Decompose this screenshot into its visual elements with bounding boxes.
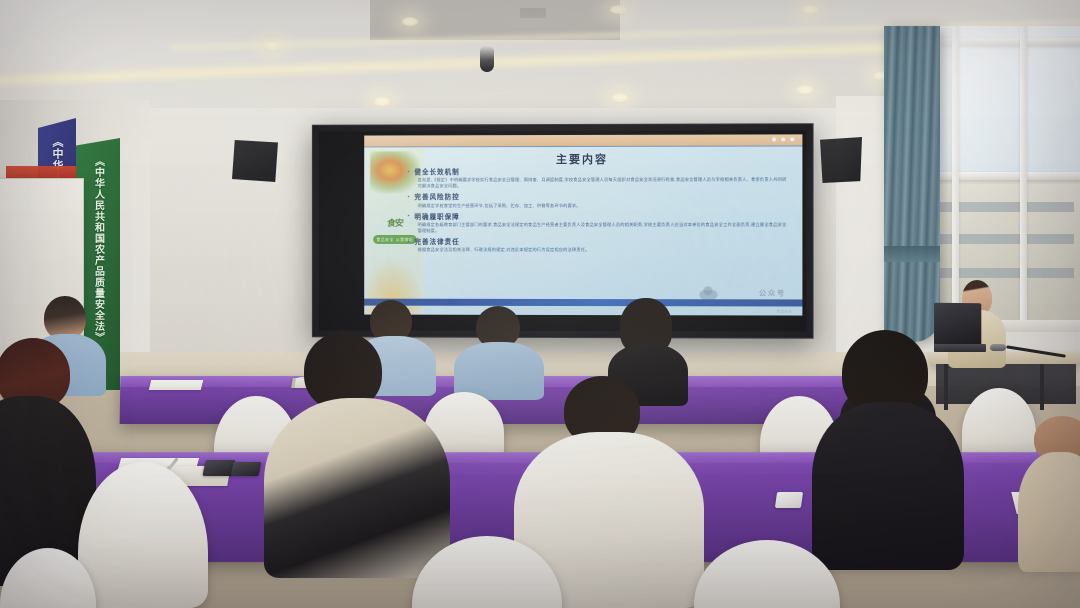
slide-bullet-heading: 明确履职保障 — [408, 214, 791, 221]
slide-watermark-sub: 食品安全 — [777, 308, 793, 313]
downlight-icon — [795, 84, 815, 95]
attendee-body — [264, 398, 450, 578]
downlight-icon — [400, 16, 420, 27]
attendee-body — [1018, 452, 1080, 572]
slide-bullet-detail: 明确规定学校食堂的生产经营环节,包括了采购、贮存、加工、供餐等各环节的要求。 — [418, 203, 791, 209]
wall-speaker-left-icon — [232, 140, 278, 182]
desk-leg — [1040, 364, 1044, 410]
minimize-icon[interactable] — [772, 137, 776, 141]
slide-canvas: 食安 食品安全 从我做起 主要内容 健全长效机制 首先是,《规定》中明确要求学校… — [364, 134, 802, 315]
slide-title: 主要内容 — [364, 150, 802, 167]
cloud-icon — [699, 290, 717, 299]
paper — [149, 380, 203, 390]
slide-bullet-detail: 明确规定各级教育部门主管部门的要求,食品安全法规定的食品生产经营者主要负责人及食… — [418, 222, 791, 234]
presenter-laptop-base[interactable] — [934, 344, 986, 352]
slide-bullet-detail: 首先是,《规定》中明确要求学校实行食品安全日管理、周排查、月调度制度,学校食品安… — [418, 177, 791, 190]
downlight-icon — [608, 4, 628, 15]
ceiling-camera-icon — [480, 46, 494, 72]
curtain-tieback — [884, 246, 940, 262]
slide-footer-bar — [364, 299, 802, 307]
phone[interactable] — [775, 492, 803, 508]
wall-speaker-right-icon — [820, 137, 862, 183]
attendee-body — [812, 402, 964, 570]
downlight-icon — [610, 92, 630, 103]
slide-bullet-heading: 完善法律责任 — [408, 239, 791, 246]
curtain — [884, 26, 940, 342]
slide-bullet-heading: 健全长效机制 — [408, 169, 791, 177]
presenter-laptop-screen[interactable] — [934, 303, 981, 348]
downlight-icon — [262, 40, 282, 51]
window-controls[interactable] — [772, 137, 794, 141]
maximize-icon[interactable] — [781, 137, 785, 141]
slide-bullet-detail: 根据食品安全法及相关法律、行政法规的规定,对违反本规定的行为设定相应的法律责任。 — [418, 247, 791, 253]
microphone-icon — [990, 344, 1006, 351]
phone[interactable] — [231, 462, 262, 476]
meeting-room-photo: 《中华人民共和国食品安全法》 《中华人民共和国农产品质量安全法》 食安 食品安全… — [0, 0, 1080, 608]
slide-bullet-heading: 完善风险防控 — [408, 194, 791, 202]
slide-body: 健全长效机制 首先是,《规定》中明确要求学校实行食品安全日管理、周排查、月调度制… — [408, 169, 791, 259]
slide-watermark: 公众号 — [759, 288, 786, 298]
downlight-icon — [800, 4, 820, 15]
close-icon[interactable] — [790, 137, 794, 141]
ceiling-vent — [520, 8, 546, 18]
downlight-icon — [372, 96, 392, 107]
desk-leg — [944, 364, 948, 410]
slide-divider — [364, 145, 802, 147]
